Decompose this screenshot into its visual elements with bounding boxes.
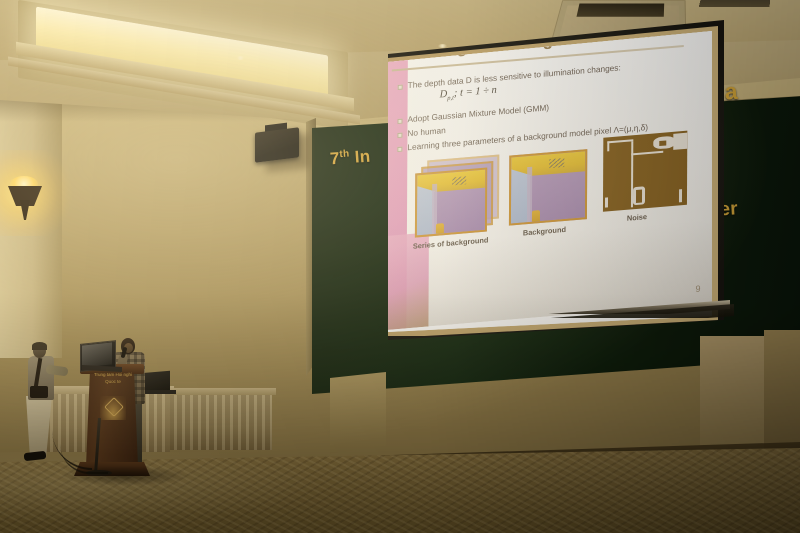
projection-screen-surface: Learning the background model The depth … bbox=[360, 28, 712, 332]
wall-panel-left bbox=[330, 364, 386, 454]
floor-highlight bbox=[0, 452, 420, 533]
laptop-screen-glow bbox=[82, 342, 112, 367]
noise-streak bbox=[633, 151, 663, 156]
wall-panel-right bbox=[700, 336, 764, 454]
laptop-side-base bbox=[140, 390, 176, 394]
depth-frame-background bbox=[509, 149, 587, 226]
noise-streak bbox=[607, 141, 609, 151]
depth-hatch-region bbox=[550, 158, 565, 168]
backdrop-text-left: 7th In bbox=[329, 147, 371, 170]
seated-attendee-hair bbox=[32, 342, 47, 350]
slide-plane: Learning the background model The depth … bbox=[360, 28, 712, 332]
lectern-label: Trung tam Hoi nghi Quoc te bbox=[90, 372, 136, 386]
downlight-2 bbox=[438, 44, 447, 48]
lectern-floor-shadow bbox=[60, 466, 190, 486]
lectern-emblem-icon bbox=[100, 396, 126, 420]
noise-hole bbox=[659, 140, 666, 146]
noise-blob bbox=[673, 133, 687, 150]
depth-object-region bbox=[532, 210, 540, 222]
bullet-marker-icon bbox=[398, 119, 403, 124]
depth-frame-front bbox=[415, 167, 487, 237]
slide-content: Learning the background model The depth … bbox=[384, 28, 712, 330]
bullet-marker-icon bbox=[397, 147, 402, 152]
downlight-1 bbox=[236, 56, 245, 60]
seated-attendee-bag bbox=[30, 386, 48, 398]
figure-caption: Noise bbox=[627, 212, 647, 223]
ac-vent-slot bbox=[576, 3, 664, 16]
bullet-marker-icon bbox=[397, 133, 402, 138]
noise-hole bbox=[636, 189, 642, 203]
depth-object-region bbox=[436, 223, 444, 234]
lectern-label-line1: Trung tam Hoi nghi bbox=[90, 372, 136, 379]
noise-streak bbox=[607, 139, 633, 143]
noise-streak bbox=[679, 189, 682, 202]
noise-mask-image bbox=[603, 131, 687, 212]
noise-streak bbox=[605, 197, 608, 207]
lectern-label-line2: Quoc te bbox=[90, 379, 136, 386]
slide-page-number: 9 bbox=[695, 284, 700, 294]
wall-speaker bbox=[255, 127, 299, 162]
bullet-marker-icon bbox=[398, 85, 403, 90]
wall-panel-far-right bbox=[764, 330, 800, 454]
conference-room-photo: 7th In etics a enter Learning the backgr… bbox=[0, 0, 800, 533]
depth-hatch-region bbox=[453, 176, 467, 185]
ac-vent-slot-right bbox=[699, 0, 771, 7]
